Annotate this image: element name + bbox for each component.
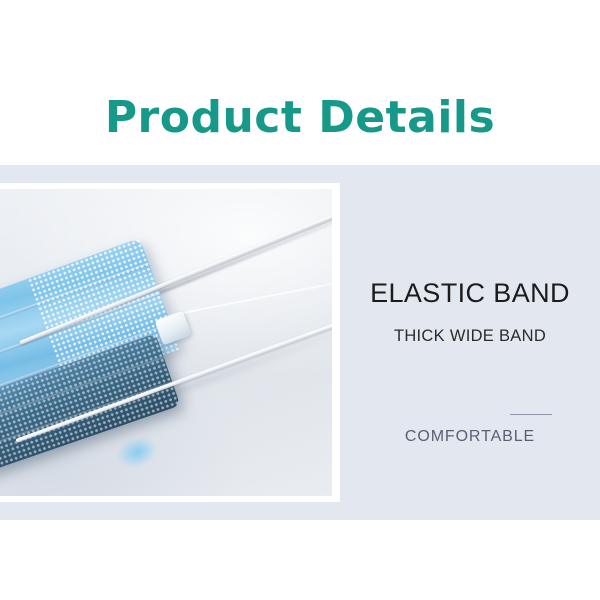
product-photo-frame [0,183,340,502]
feature-headline: ELASTIC BAND [340,278,600,309]
text-divider [510,414,552,415]
page-title: Product Details [0,92,600,144]
feature-subheadline: THICK WIDE BAND [340,327,600,346]
product-detail-banner: ELASTIC BAND THICK WIDE BAND COMFORTABLE [0,165,600,520]
product-photo [0,189,332,496]
title-area: Product Details [0,0,600,165]
bottom-white-area [0,520,600,600]
feature-tagline: COMFORTABLE [340,428,600,446]
feature-text-block: ELASTIC BAND THICK WIDE BAND COMFORTABLE [340,165,600,520]
